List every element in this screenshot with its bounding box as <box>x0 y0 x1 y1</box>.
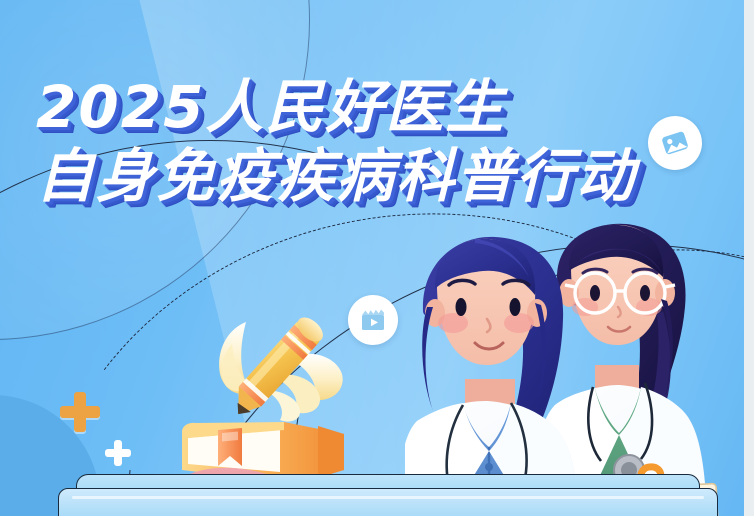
doctor-illustrations <box>405 215 754 516</box>
poster-title: 2025人民好医生 自身免疫疾病科普行动 <box>36 78 636 206</box>
video-clapperboard-icon <box>358 306 388 334</box>
title-line-2: 自身免疫疾病科普行动 <box>36 147 636 206</box>
winged-pencil-and-book <box>168 300 358 500</box>
campaign-poster: 2025人民好医生 自身免疫疾病科普行动 <box>0 0 754 516</box>
plus-decoration-orange <box>60 392 100 432</box>
desk-bar-highlight <box>72 496 704 499</box>
desk-bar-body <box>58 488 718 516</box>
image-icon <box>656 124 694 162</box>
title-line-1: 2025人民好医生 <box>36 78 636 137</box>
video-badge[interactable] <box>348 295 398 345</box>
plus-decoration-white <box>105 440 131 466</box>
desk-bar <box>58 474 718 516</box>
